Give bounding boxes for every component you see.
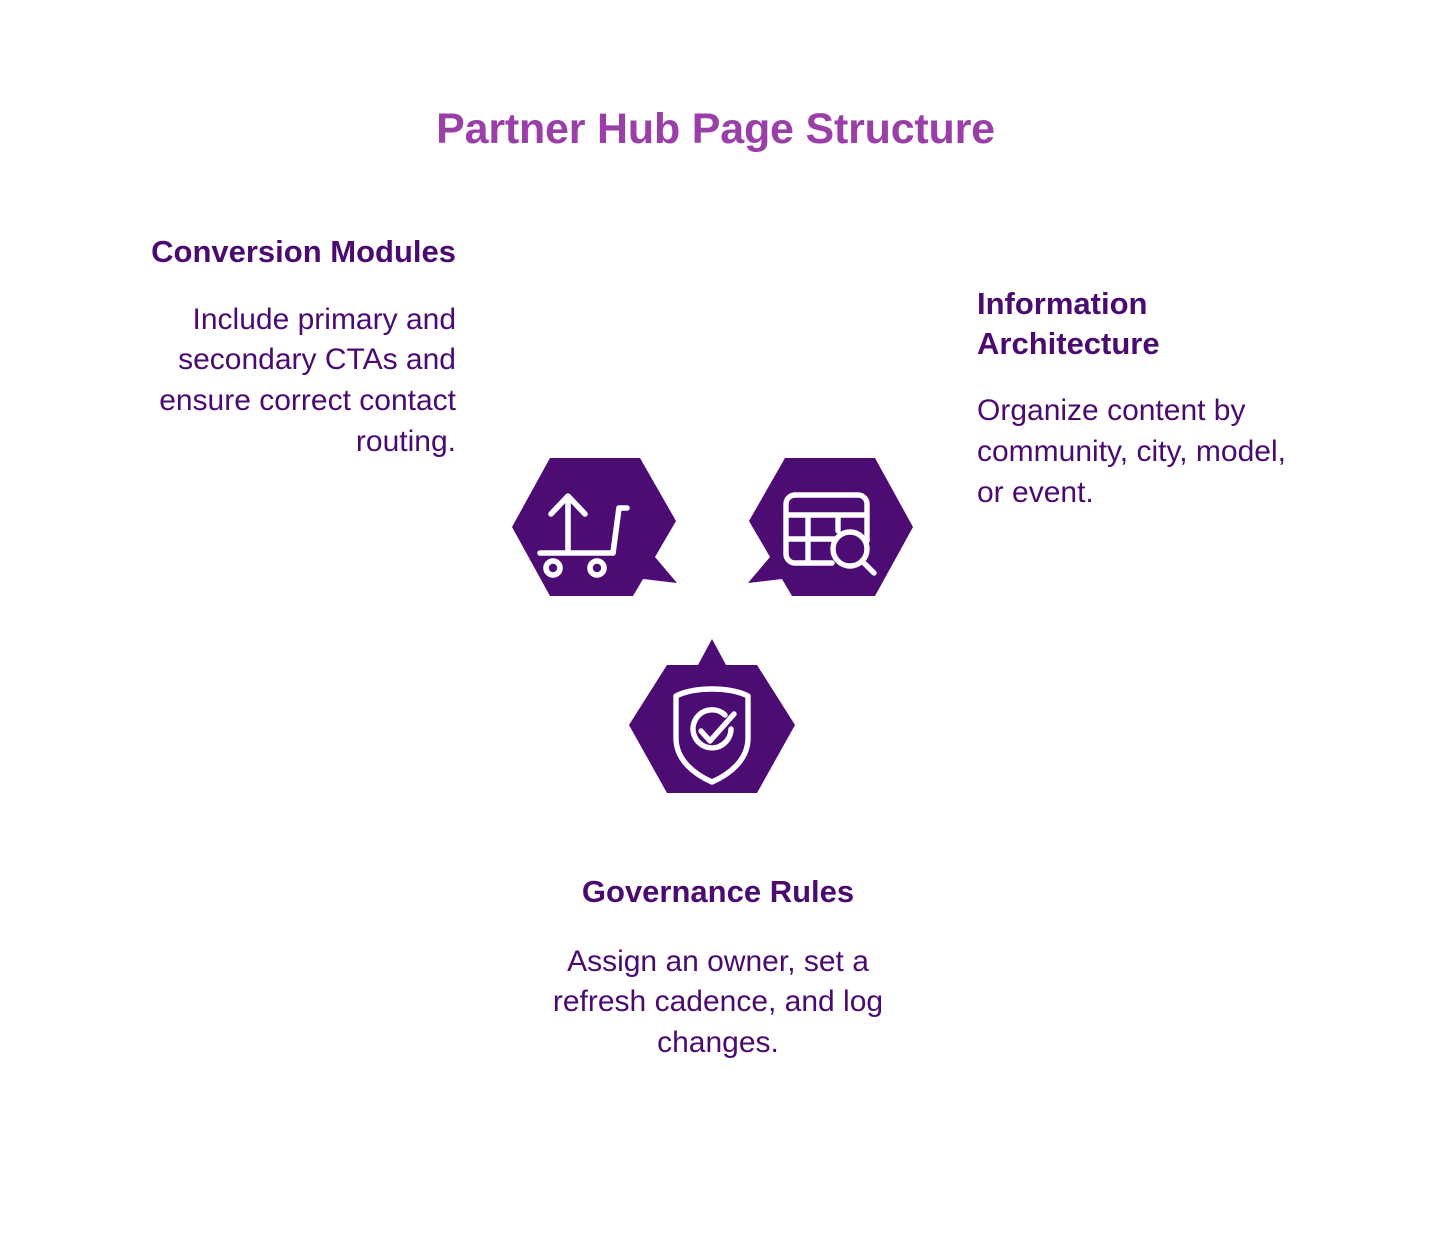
- block-conversion-modules: Conversion Modules Include primary and s…: [120, 232, 456, 463]
- hex-badge-governance-rules: [622, 645, 802, 805]
- page-title: Partner Hub Page Structure: [0, 105, 1431, 154]
- block-governance-rules-heading: Governance Rules: [528, 872, 908, 912]
- block-conversion-modules-heading: Conversion Modules: [120, 232, 456, 272]
- block-information-architecture-heading: Information Architecture: [977, 284, 1307, 363]
- infographic-canvas: Partner Hub Page Structure Conversion Mo…: [0, 0, 1431, 1252]
- block-information-architecture: Information Architecture Organize conten…: [977, 284, 1307, 514]
- block-governance-rules: Governance Rules Assign an owner, set a …: [528, 872, 908, 1064]
- block-conversion-modules-body: Include primary and secondary CTAs and e…: [120, 300, 456, 463]
- hex-badge-conversion-modules: [505, 455, 685, 615]
- block-governance-rules-body: Assign an owner, set a refresh cadence, …: [528, 942, 908, 1064]
- hexagon-shape: [748, 458, 913, 596]
- hexagon-shape: [629, 639, 795, 793]
- hexagon-icon-cluster: [490, 440, 950, 840]
- block-information-architecture-body: Organize content by community, city, mod…: [977, 391, 1307, 513]
- hex-badge-information-architecture: [740, 455, 920, 615]
